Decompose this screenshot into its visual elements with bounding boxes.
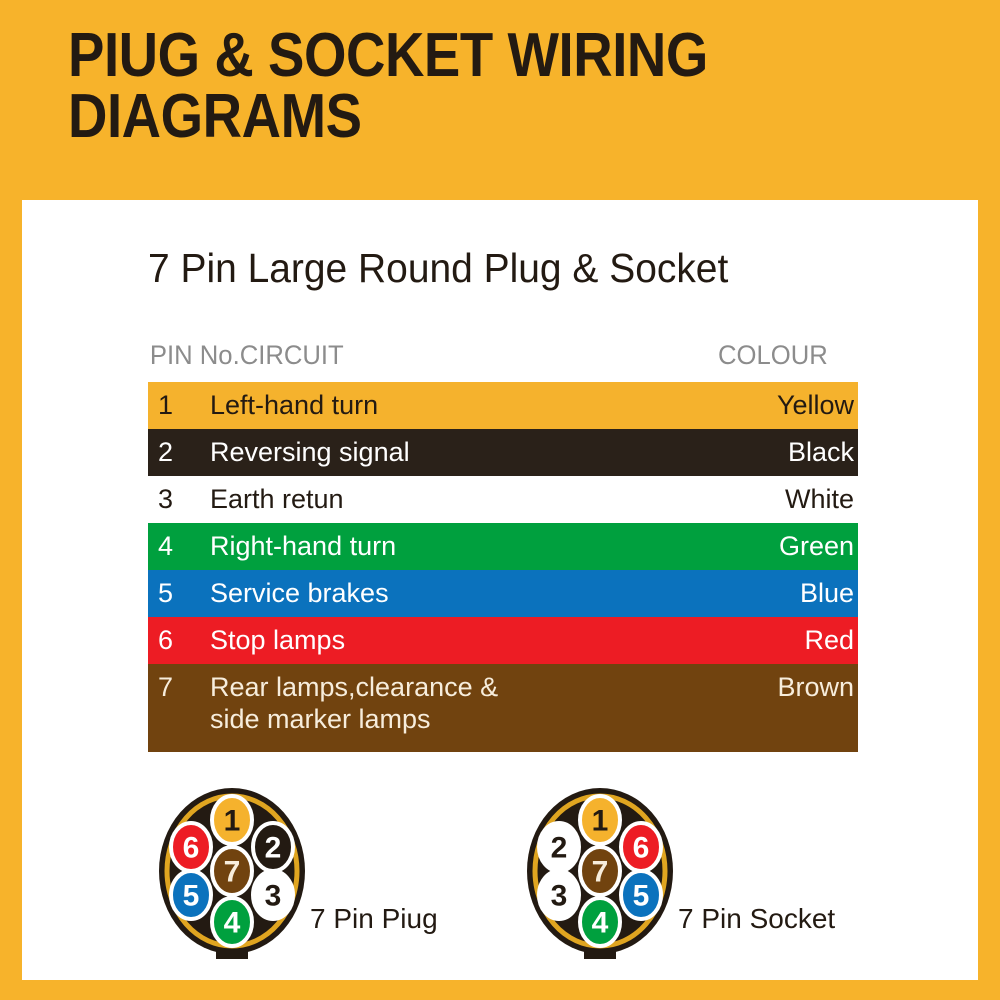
cell-pin-number: 4: [158, 530, 192, 563]
pin-number-label: 6: [183, 832, 200, 865]
content-panel: 7 Pin Large Round Plug & Socket PIN No.C…: [22, 200, 978, 980]
pin-7[interactable]: 7: [580, 847, 620, 895]
table-row: 5Service brakesBlue: [148, 570, 858, 617]
table-row: 7Rear lamps,clearance & side marker lamp…: [148, 664, 858, 752]
pin-5[interactable]: 5: [171, 871, 211, 919]
pin-number-label: 1: [592, 805, 609, 838]
table-body: 1Left-hand turnYellow2Reversing signalBl…: [148, 382, 858, 752]
cell-pin-number: 5: [158, 577, 192, 610]
table-row: 1Left-hand turnYellow: [148, 382, 858, 429]
pin-number-label: 3: [265, 880, 282, 913]
column-header-pin-circuit: PIN No.CIRCUIT: [150, 340, 344, 371]
pin-4[interactable]: 4: [212, 898, 252, 946]
connector-diagrams: 1234567 7 Pin Piug 1234567 7 Pin Socket: [22, 775, 978, 975]
page-title: PIUG & SOCKET WIRING DIAGRAMS: [68, 26, 842, 148]
plug-connector-face: 1234567: [132, 775, 332, 980]
pin-number-label: 5: [183, 880, 200, 913]
socket-connector-face: 1234567: [500, 775, 700, 980]
header-banner: PIUG & SOCKET WIRING DIAGRAMS: [0, 0, 1000, 200]
cell-pin-number: 2: [158, 436, 192, 469]
cell-circuit-description: Right-hand turn: [210, 530, 730, 562]
pin-assignment-table: PIN No.CIRCUIT COLOUR 1Left-hand turnYel…: [148, 340, 858, 752]
pin-number-label: 4: [224, 907, 241, 940]
table-header-row: PIN No.CIRCUIT COLOUR: [148, 340, 823, 382]
cell-wire-colour: Yellow: [728, 389, 854, 422]
pin-6[interactable]: 6: [621, 823, 661, 871]
cell-wire-colour: Red: [728, 624, 854, 657]
pin-4[interactable]: 4: [580, 898, 620, 946]
table-row: 3Earth retunWhite: [148, 476, 858, 523]
pin-1[interactable]: 1: [212, 796, 252, 844]
socket-diagram: 1234567 7 Pin Socket: [500, 775, 800, 975]
pin-number-label: 2: [265, 832, 282, 865]
cell-pin-number: 1: [158, 389, 192, 422]
pin-6[interactable]: 6: [171, 823, 211, 871]
section-subtitle: 7 Pin Large Round Plug & Socket: [148, 245, 728, 292]
pin-1[interactable]: 1: [580, 796, 620, 844]
pin-number-label: 6: [633, 832, 650, 865]
cell-pin-number: 7: [158, 671, 192, 704]
plug-caption: 7 Pin Piug: [310, 903, 438, 935]
pin-number-label: 2: [551, 832, 568, 865]
cell-pin-number: 6: [158, 624, 192, 657]
cell-wire-colour: Blue: [728, 577, 854, 610]
plug-diagram: 1234567 7 Pin Piug: [132, 775, 432, 975]
table-row: 6Stop lampsRed: [148, 617, 858, 664]
pin-2[interactable]: 2: [539, 823, 579, 871]
pin-2[interactable]: 2: [253, 823, 293, 871]
pin-3[interactable]: 3: [253, 871, 293, 919]
pin-number-label: 5: [633, 880, 650, 913]
pin-number-label: 3: [551, 880, 568, 913]
socket-caption: 7 Pin Socket: [678, 903, 835, 935]
cell-circuit-description: Reversing signal: [210, 436, 730, 468]
cell-circuit-description: Rear lamps,clearance & side marker lamps: [210, 671, 730, 735]
cell-wire-colour: Green: [728, 530, 854, 563]
cell-circuit-description: Stop lamps: [210, 624, 730, 656]
cell-pin-number: 3: [158, 483, 192, 516]
column-header-colour: COLOUR: [718, 340, 828, 371]
cell-wire-colour: Black: [728, 436, 854, 469]
pin-5[interactable]: 5: [621, 871, 661, 919]
pin-number-label: 4: [592, 907, 609, 940]
cell-circuit-description: Left-hand turn: [210, 389, 730, 421]
pin-number-label: 1: [224, 805, 241, 838]
pin-7[interactable]: 7: [212, 847, 252, 895]
cell-wire-colour: White: [728, 483, 854, 516]
pin-3[interactable]: 3: [539, 871, 579, 919]
pin-number-label: 7: [592, 856, 609, 889]
cell-circuit-description: Earth retun: [210, 483, 730, 515]
table-row: 4Right-hand turnGreen: [148, 523, 858, 570]
cell-wire-colour: Brown: [728, 671, 854, 704]
cell-circuit-description: Service brakes: [210, 577, 730, 609]
table-row: 2Reversing signalBlack: [148, 429, 858, 476]
wiring-diagram-poster: PIUG & SOCKET WIRING DIAGRAMS 7 Pin Larg…: [0, 0, 1000, 1000]
pin-number-label: 7: [224, 856, 241, 889]
